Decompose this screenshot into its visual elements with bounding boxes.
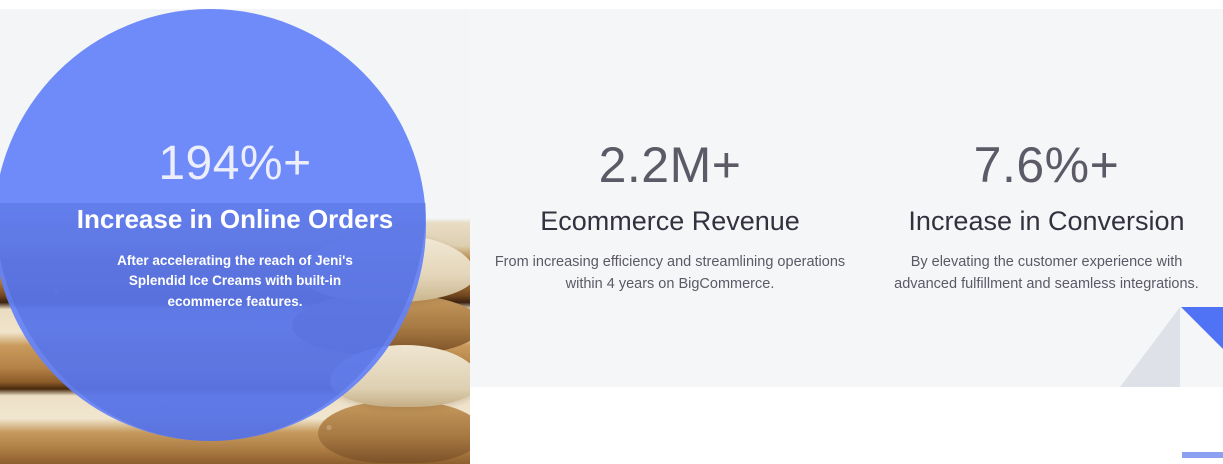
stat-number: 7.6%+ [884,139,1209,192]
blue-accent-bar [1182,452,1223,458]
stat-description: By elevating the customer experience wit… [884,251,1209,295]
gray-triangle-decoration [1120,307,1180,387]
stat-description: From increasing efficiency and streamlin… [490,251,850,295]
stats-banner: 194%+ Increase in Online Orders After ac… [0,0,1223,464]
stat-number: 2.2M+ [484,139,856,192]
stat-description: After accelerating the reach of Jeni's S… [105,251,365,313]
bottom-white-area [470,387,1223,464]
stat-title: Increase in Online Orders [14,203,456,236]
top-white-strip [0,0,1223,9]
stat-card-ecommerce-revenue: 2.2M+ Ecommerce Revenue From increasing … [470,9,870,387]
blue-triangle-decoration [1181,307,1223,349]
stat-number: 194%+ [14,139,456,189]
stat-title: Ecommerce Revenue [484,204,856,239]
stat-card-online-orders: 194%+ Increase in Online Orders After ac… [0,9,470,387]
stats-row: 194%+ Increase in Online Orders After ac… [0,9,1223,387]
stat-title: Increase in Conversion [884,204,1209,239]
